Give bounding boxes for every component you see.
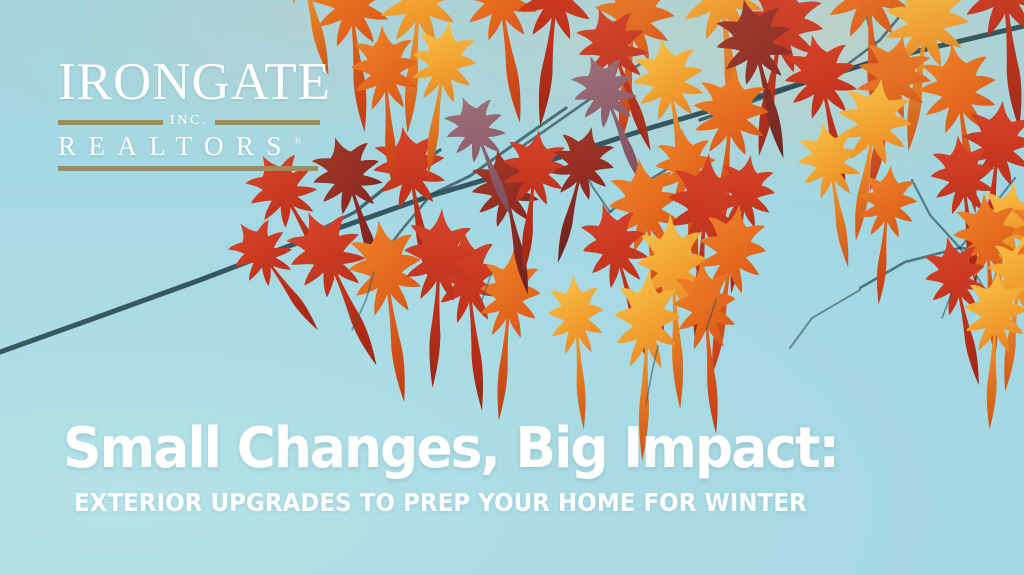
logo-inc-label: INC. xyxy=(170,114,208,128)
logo-inc-row: INC. xyxy=(58,115,320,129)
marketing-graphic: IRONGATE INC. REALTORS® Small Changes, B… xyxy=(0,0,1024,575)
logo-realtors-label: REALTORS® xyxy=(58,133,320,160)
headline-block: Small Changes, Big Impact: EXTERIOR UPGR… xyxy=(63,421,963,515)
logo-wordmark: IRONGATE xyxy=(58,56,320,109)
logo-rule-left xyxy=(58,120,163,125)
page-title: Small Changes, Big Impact: xyxy=(63,421,923,477)
page-subtitle: EXTERIOR UPGRADES TO PREP YOUR HOME FOR … xyxy=(74,490,887,515)
irongate-logo[interactable]: IRONGATE INC. REALTORS® xyxy=(58,56,320,171)
logo-realtors-text: REALTORS xyxy=(58,131,294,161)
logo-rule-bottom xyxy=(58,166,318,171)
registered-trademark-icon: ® xyxy=(294,136,302,147)
logo-rule-right xyxy=(215,120,320,125)
